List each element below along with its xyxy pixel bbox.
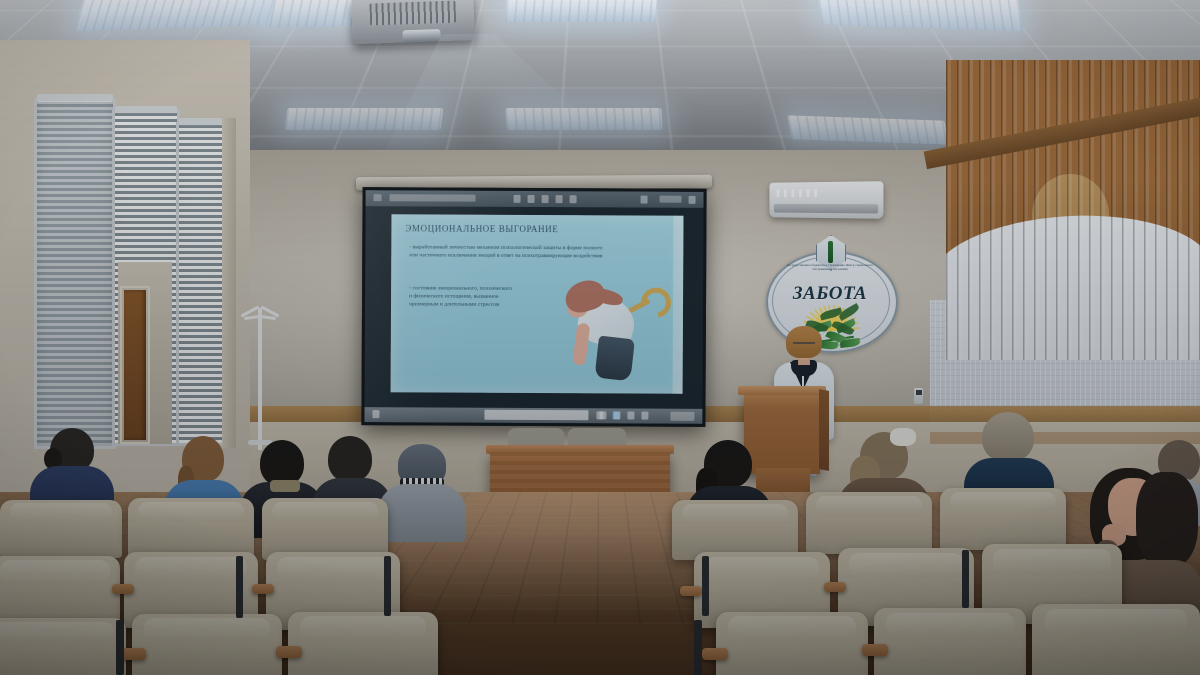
present-icon[interactable] bbox=[556, 195, 563, 203]
auditorium-seat[interactable] bbox=[288, 612, 438, 675]
powerpoint-toolbar[interactable] bbox=[366, 190, 704, 208]
projection-screen: ЭМОЦИОНАЛЬНОЕ ВЫГОРАНИЕ выработанный лич… bbox=[361, 187, 706, 427]
person-head bbox=[982, 412, 1034, 462]
presentation-slide: ЭМОЦИОНАЛЬНОЕ ВЫГОРАНИЕ выработанный лич… bbox=[391, 214, 684, 394]
seat-armrest bbox=[824, 582, 846, 592]
start-icon[interactable] bbox=[372, 410, 379, 418]
air-conditioner[interactable] bbox=[769, 181, 883, 219]
close-icon[interactable] bbox=[689, 196, 696, 204]
snake-bowl-icon bbox=[828, 241, 833, 263]
seat-leg bbox=[384, 556, 391, 616]
seat-leg bbox=[702, 556, 709, 616]
auditorium-seat[interactable] bbox=[262, 498, 388, 560]
lectern-side-panel bbox=[819, 389, 829, 471]
taskbar-search-box[interactable] bbox=[484, 410, 588, 421]
auditorium-seat[interactable] bbox=[132, 614, 282, 675]
document-title-bar bbox=[390, 194, 476, 201]
coat-rack[interactable] bbox=[238, 290, 284, 450]
windows-taskbar[interactable] bbox=[364, 407, 702, 424]
auditorium-seat[interactable] bbox=[1032, 604, 1200, 675]
horizontal-blinds[interactable] bbox=[37, 101, 113, 446]
lectern-top bbox=[738, 386, 826, 395]
logo-subtitle: Государственное бюджетное учреждение Цен… bbox=[782, 263, 878, 283]
plant-leaf bbox=[837, 303, 860, 321]
intercom-handset[interactable] bbox=[914, 388, 923, 404]
seat-armrest bbox=[276, 646, 302, 658]
audience-member bbox=[378, 444, 466, 538]
auditorium-seat[interactable] bbox=[0, 618, 126, 675]
wall-column bbox=[222, 118, 236, 448]
eyeglasses-icon bbox=[793, 342, 815, 349]
seat-armrest bbox=[252, 584, 274, 594]
person-head bbox=[328, 436, 372, 482]
glass-partition-panel bbox=[34, 98, 116, 449]
tray-up-icon[interactable] bbox=[599, 411, 606, 419]
person-torso bbox=[378, 484, 466, 542]
seat-leg bbox=[694, 620, 702, 675]
auditorium-seat[interactable] bbox=[940, 488, 1066, 550]
burnout-illustration bbox=[541, 267, 668, 388]
person-hairband bbox=[890, 428, 916, 446]
ac-air-louver bbox=[774, 204, 878, 214]
projector-vents bbox=[369, 1, 456, 26]
intercom-screen bbox=[916, 390, 922, 395]
seat-armrest bbox=[112, 584, 134, 594]
slide-title: ЭМОЦИОНАЛЬНОЕ ВЫГОРАНИЕ bbox=[405, 223, 665, 234]
auditorium-seat[interactable] bbox=[716, 612, 868, 675]
seat-armrest bbox=[680, 586, 702, 596]
person-hair-back bbox=[1136, 472, 1198, 568]
minimize-icon[interactable] bbox=[641, 196, 648, 204]
coat-rack-pole bbox=[258, 308, 262, 450]
more-icon[interactable] bbox=[570, 195, 577, 203]
slide-bullet: выработанный личностью механизм психолог… bbox=[409, 243, 609, 260]
save-icon[interactable] bbox=[514, 195, 521, 203]
auditorium-seat[interactable] bbox=[672, 500, 798, 560]
projector-lens-icon bbox=[402, 29, 440, 42]
ceiling-projector bbox=[351, 0, 475, 44]
seat-leg bbox=[962, 550, 969, 608]
auditorium-seat[interactable] bbox=[806, 492, 932, 554]
glass-partition-panel bbox=[176, 122, 228, 446]
lecture-hall-photo: Государственное бюджетное учреждение Цен… bbox=[0, 0, 1200, 675]
ac-indicator-lights bbox=[777, 189, 822, 197]
figure-skirt bbox=[595, 336, 635, 382]
slide-bullet: состояние эмоционального, психического и… bbox=[409, 284, 515, 309]
auditorium-seat[interactable] bbox=[0, 500, 122, 558]
share-button[interactable] bbox=[660, 196, 682, 203]
person-scarf bbox=[270, 480, 300, 492]
auditorium-seat[interactable] bbox=[874, 608, 1026, 675]
wooden-door[interactable] bbox=[124, 290, 146, 440]
language-icon[interactable] bbox=[641, 412, 648, 420]
slide-right-edge bbox=[673, 216, 684, 394]
taskbar-clock[interactable] bbox=[670, 412, 694, 421]
redo-icon[interactable] bbox=[542, 195, 549, 203]
volume-icon[interactable] bbox=[627, 411, 634, 419]
undo-icon[interactable] bbox=[528, 195, 535, 203]
horizontal-blinds[interactable] bbox=[179, 125, 225, 443]
app-icon[interactable] bbox=[374, 194, 382, 201]
auditorium-seat[interactable] bbox=[128, 498, 254, 558]
seat-armrest bbox=[702, 648, 728, 660]
seat-armrest bbox=[862, 644, 888, 656]
figure-arm bbox=[572, 323, 590, 366]
logo-wordmark: ЗАБОТА bbox=[768, 283, 892, 305]
seat-leg bbox=[116, 620, 124, 675]
seat-leg bbox=[236, 556, 243, 618]
network-icon[interactable] bbox=[613, 411, 620, 419]
